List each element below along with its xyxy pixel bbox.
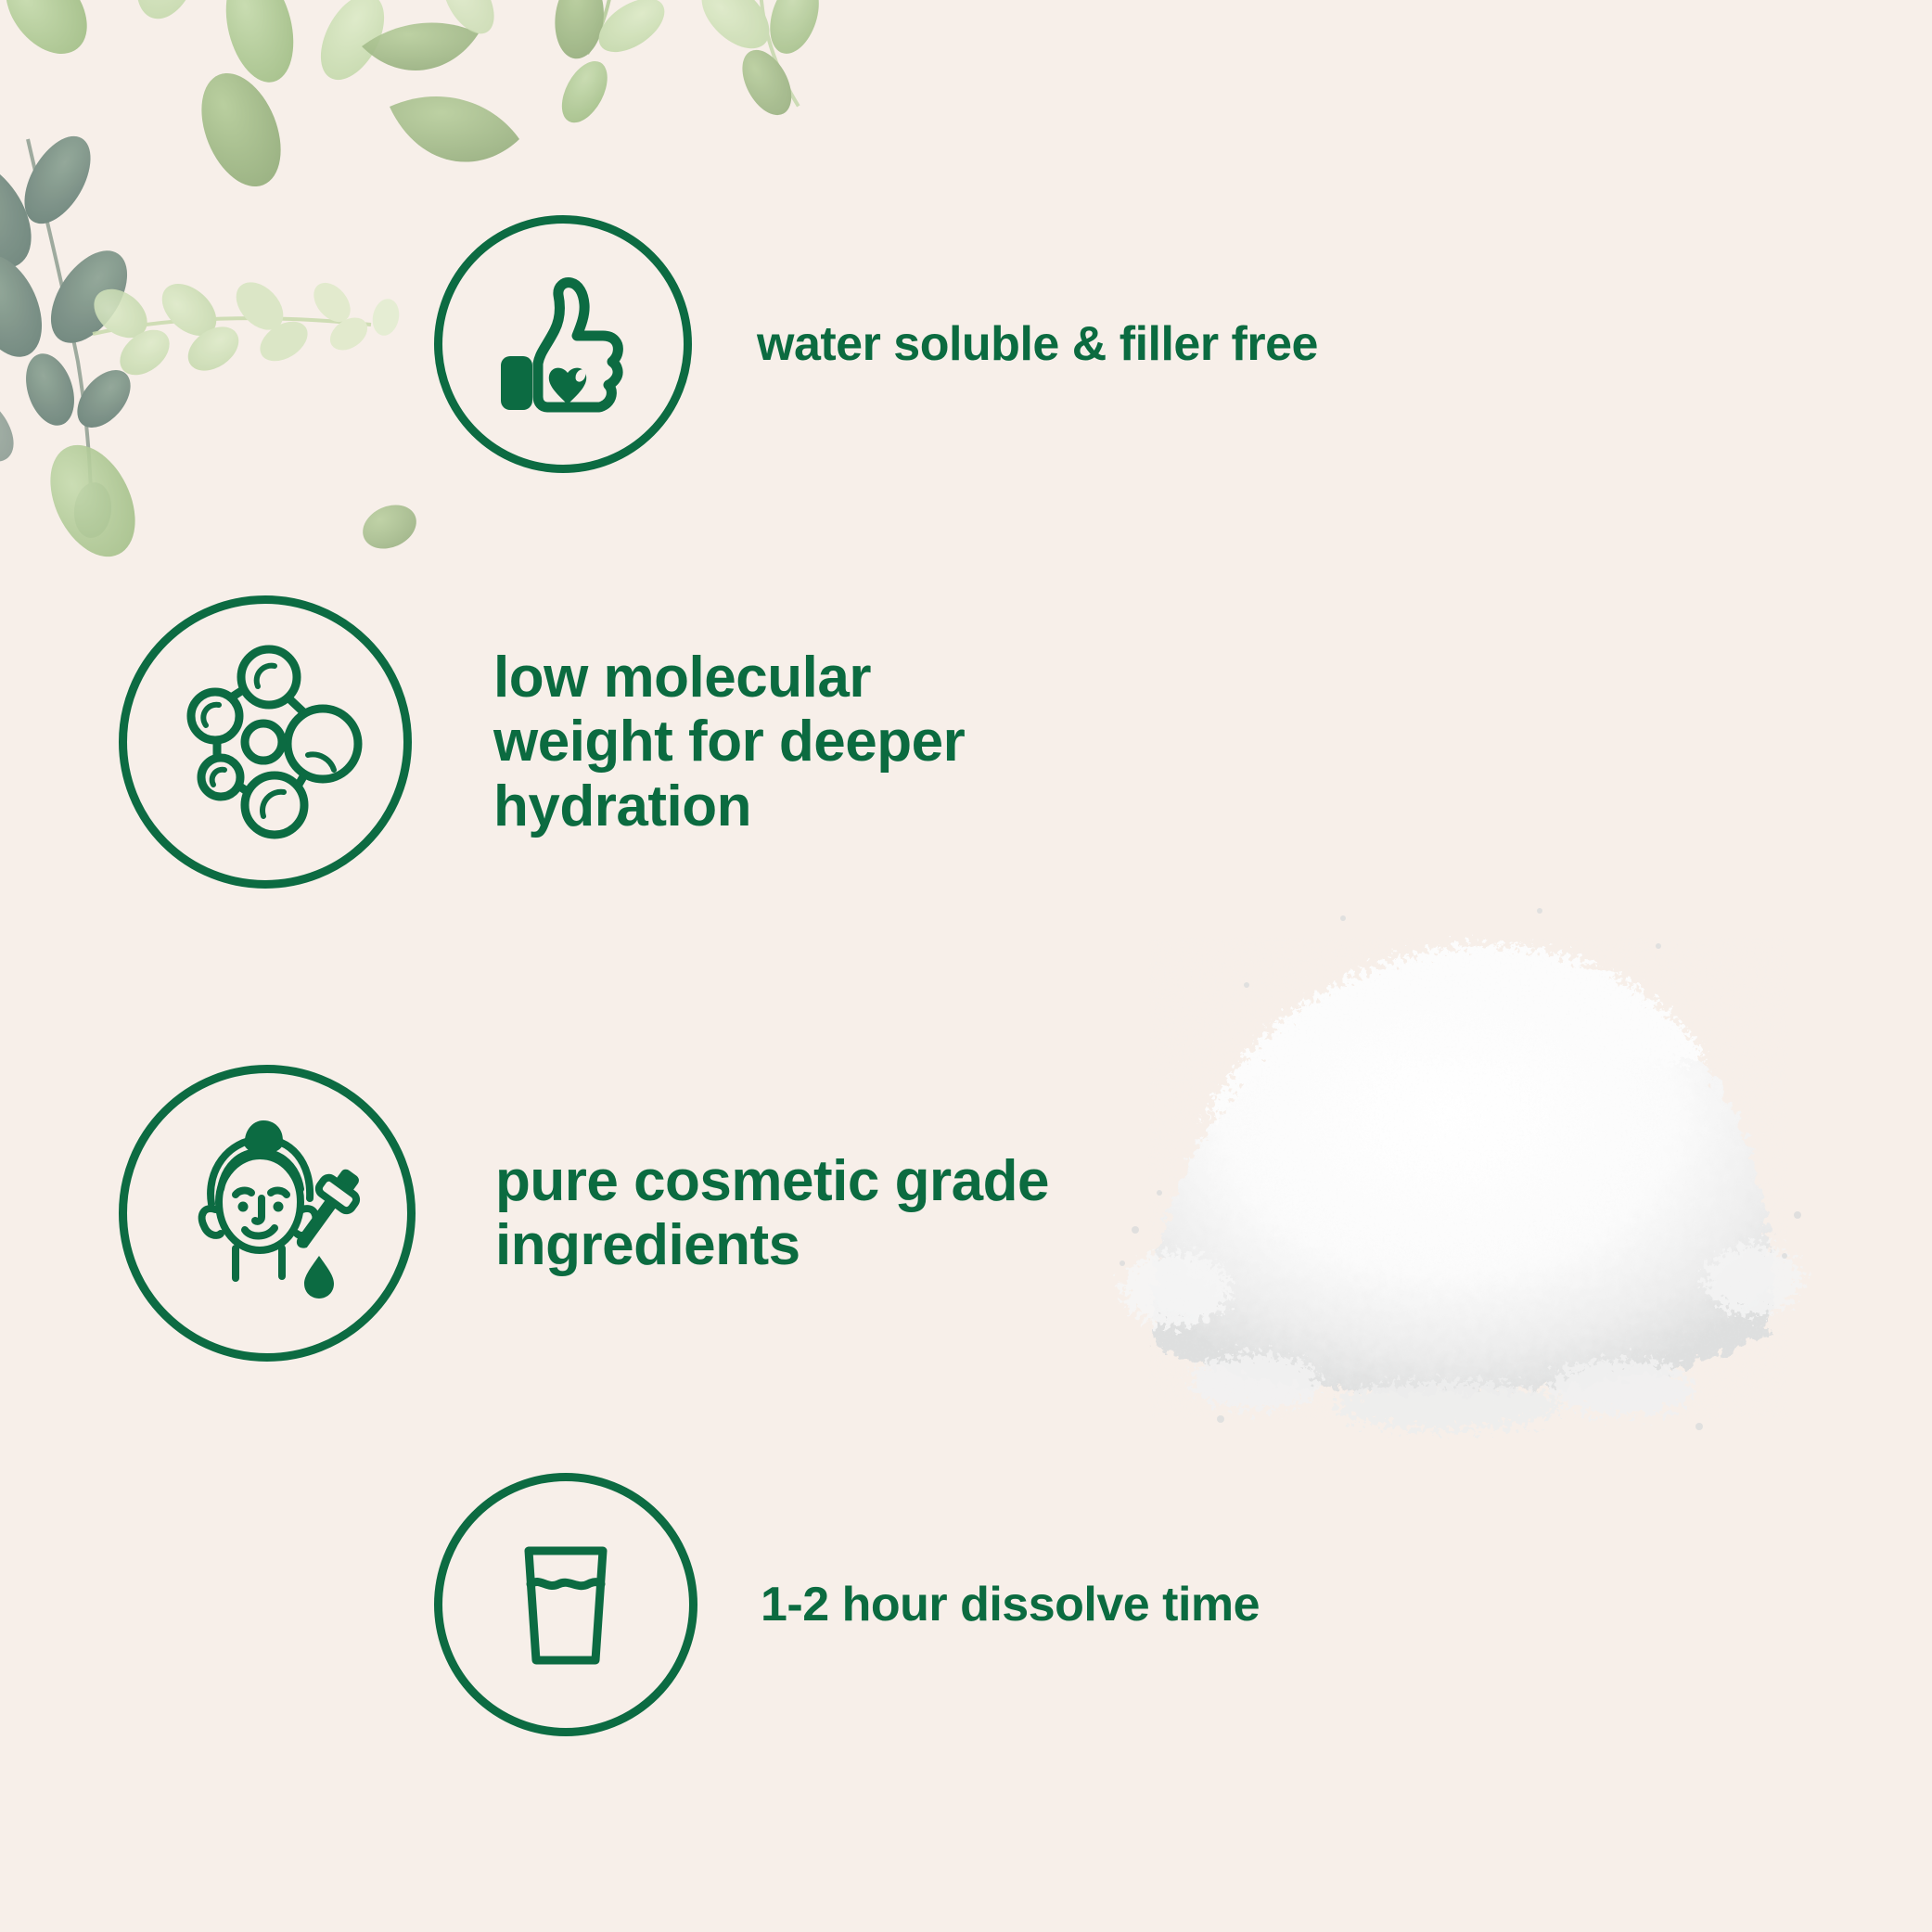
feature-label: low molecular weight for deeper hydratio… bbox=[493, 646, 965, 838]
white-powder-pile-image bbox=[1065, 640, 1844, 1456]
feature-row-low-molecular-weight: low molecular weight for deeper hydratio… bbox=[119, 595, 965, 889]
infographic-canvas: water soluble & filler free bbox=[0, 0, 1932, 1932]
feature-row-dissolve-time: 1-2 hour dissolve time bbox=[434, 1473, 1260, 1736]
feature-label: water soluble & filler free bbox=[757, 317, 1318, 371]
molecule-icon bbox=[119, 595, 412, 889]
feature-row-cosmetic-grade: pure cosmetic grade ingredients bbox=[119, 1065, 1049, 1362]
water-glass-icon bbox=[434, 1473, 697, 1736]
feature-label: 1-2 hour dissolve time bbox=[761, 1578, 1260, 1631]
face-dropper-icon bbox=[119, 1065, 416, 1362]
feature-label: pure cosmetic grade ingredients bbox=[495, 1149, 1049, 1278]
thumbs-up-heart-icon bbox=[434, 215, 692, 473]
feature-row-water-soluble: water soluble & filler free bbox=[434, 215, 1318, 473]
